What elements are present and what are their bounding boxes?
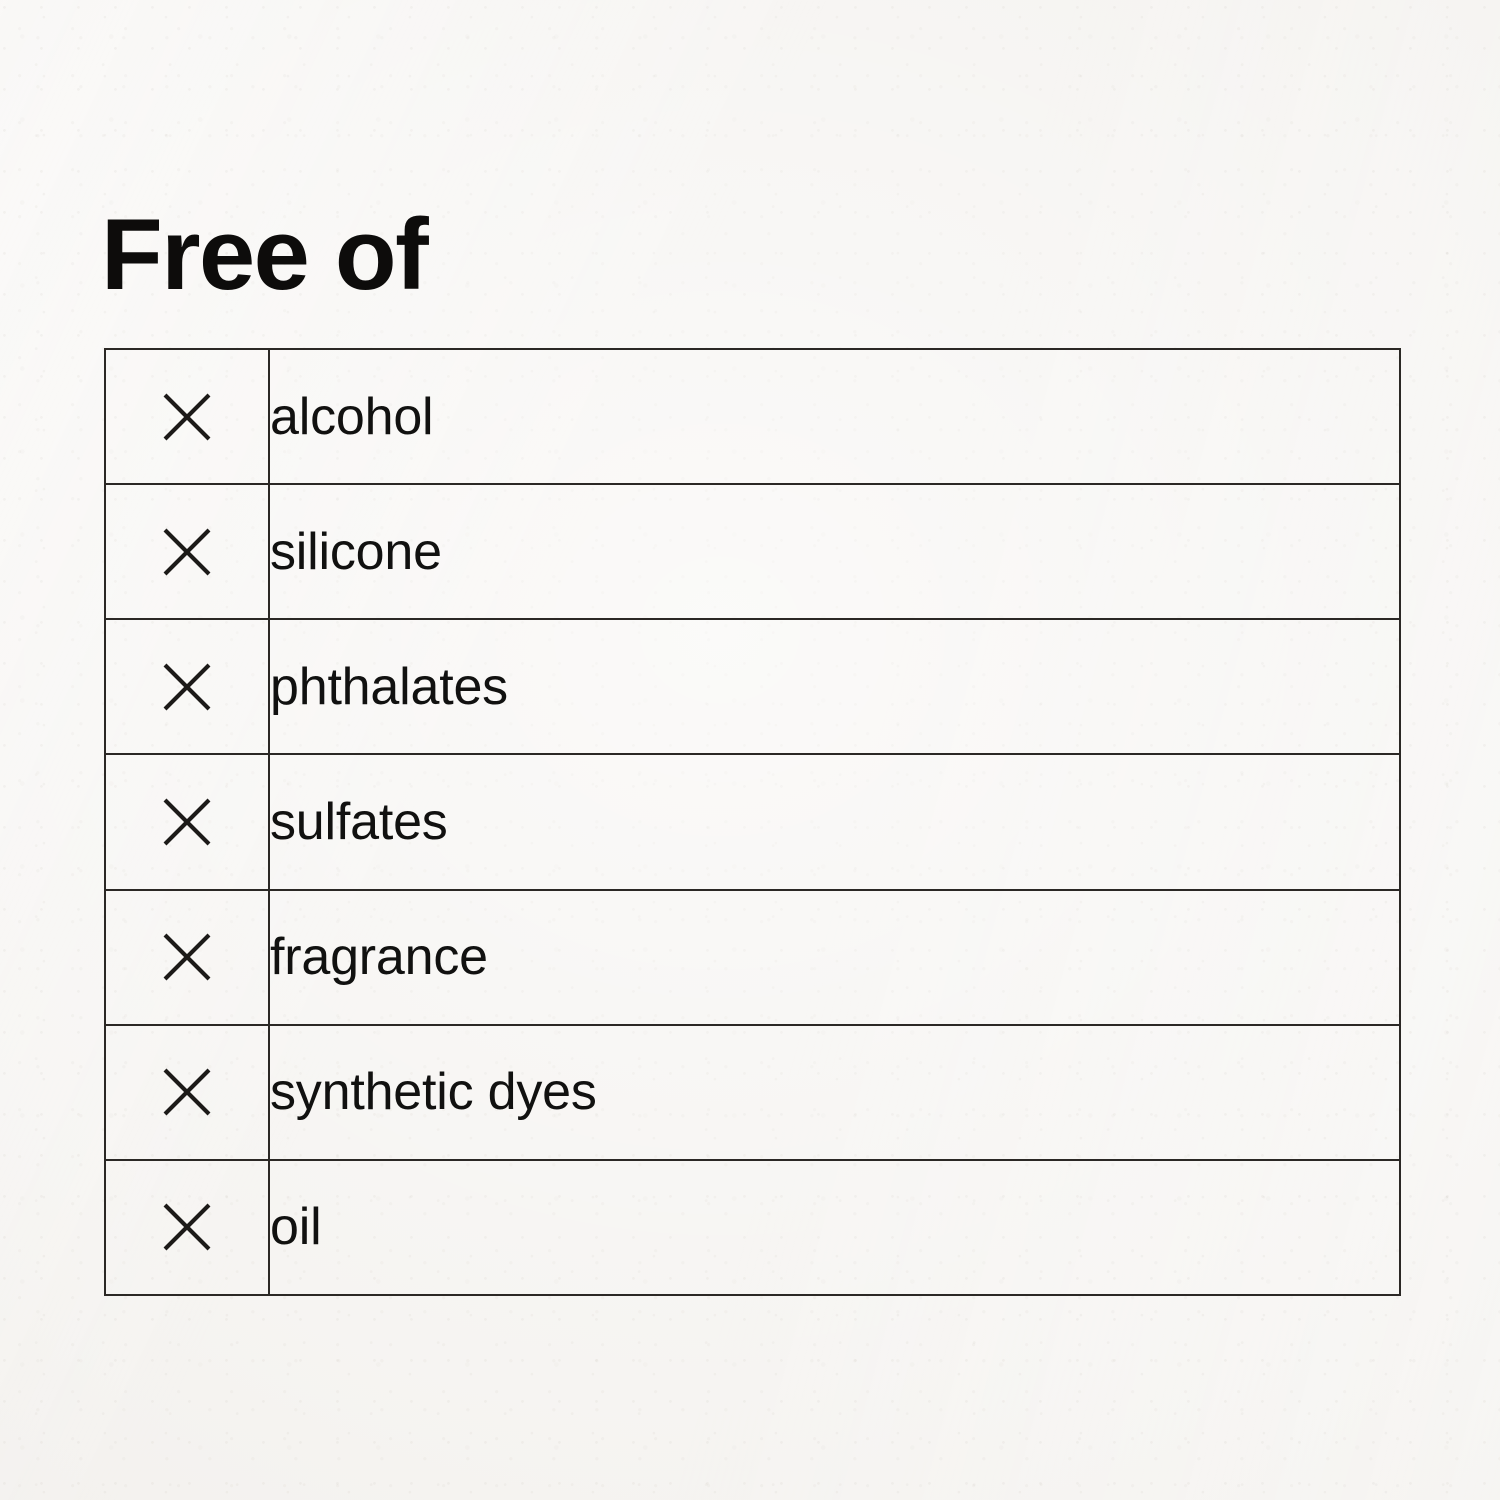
x-mark-icon — [161, 1201, 213, 1253]
table-cell-mark — [105, 484, 269, 619]
x-mark-icon — [161, 796, 213, 848]
page-canvas: Free of alcohol sili — [0, 0, 1500, 1500]
table-cell-label: synthetic dyes — [269, 1025, 1400, 1160]
table-row: synthetic dyes — [105, 1025, 1400, 1160]
table-cell-label: sulfates — [269, 754, 1400, 889]
x-mark-icon — [161, 661, 213, 713]
x-mark-icon — [161, 931, 213, 983]
page-title: Free of — [101, 205, 427, 306]
table-cell-label: fragrance — [269, 890, 1400, 1025]
table-row: oil — [105, 1160, 1400, 1295]
free-of-table: alcohol silicone phtha — [104, 348, 1401, 1296]
x-mark-icon — [161, 391, 213, 443]
table-cell-mark — [105, 349, 269, 484]
table-cell-mark — [105, 1025, 269, 1160]
table-row: silicone — [105, 484, 1400, 619]
table-cell-label: alcohol — [269, 349, 1400, 484]
table-cell-mark — [105, 754, 269, 889]
free-of-table-body: alcohol silicone phtha — [105, 349, 1400, 1295]
table-cell-label: silicone — [269, 484, 1400, 619]
table-cell-mark — [105, 890, 269, 1025]
x-mark-icon — [161, 526, 213, 578]
table-row: sulfates — [105, 754, 1400, 889]
table-cell-label: phthalates — [269, 619, 1400, 754]
table-cell-label: oil — [269, 1160, 1400, 1295]
table-row: alcohol — [105, 349, 1400, 484]
table-row: fragrance — [105, 890, 1400, 1025]
x-mark-icon — [161, 1066, 213, 1118]
table-cell-mark — [105, 619, 269, 754]
table-cell-mark — [105, 1160, 269, 1295]
table-row: phthalates — [105, 619, 1400, 754]
